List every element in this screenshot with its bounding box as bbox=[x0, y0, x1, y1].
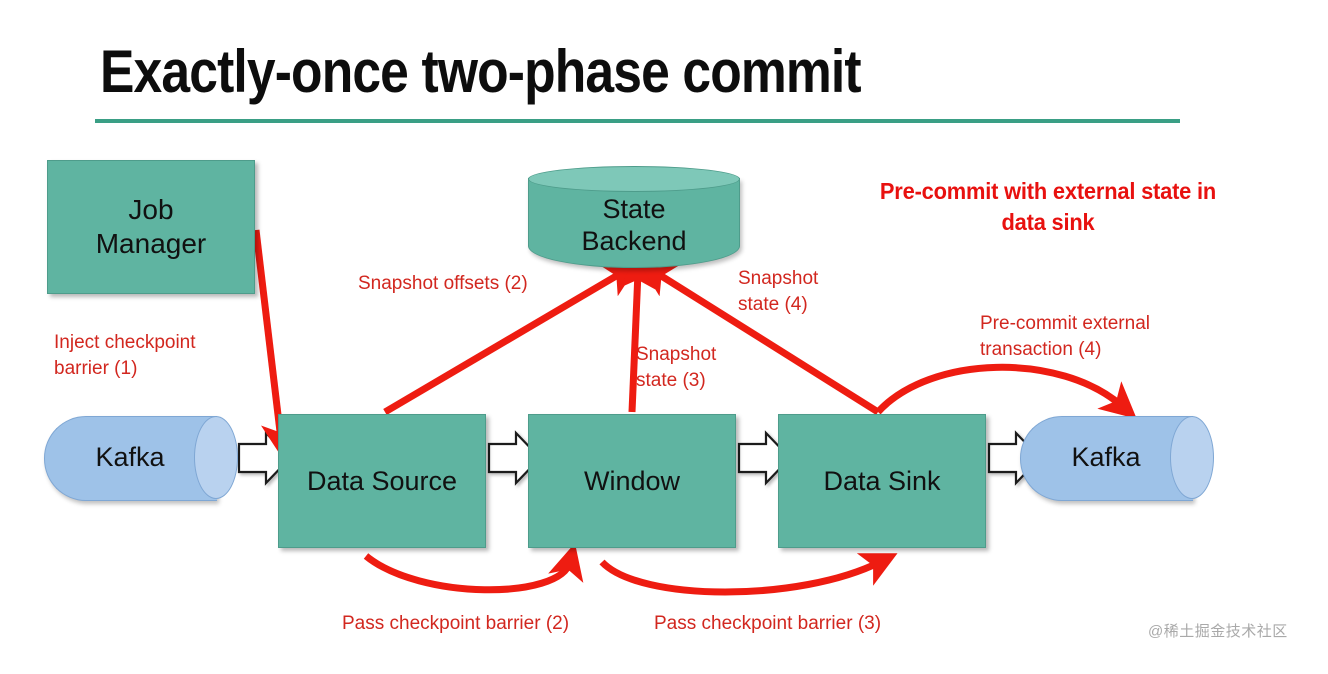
annotation-pass-barrier-3: Pass checkpoint barrier (3) bbox=[654, 611, 881, 637]
node-kafka-source[interactable]: Kafka bbox=[44, 416, 239, 499]
arrow-pass-barrier-2 bbox=[366, 556, 570, 590]
page-title: Exactly-once two-phase commit bbox=[100, 40, 861, 103]
annotation-snapshot-state-3: Snapshot state (3) bbox=[636, 342, 716, 393]
annotation-pass-barrier-2: Pass checkpoint barrier (2) bbox=[342, 611, 569, 637]
watermark: @稀土掘金技术社区 bbox=[1148, 620, 1288, 641]
node-job-manager[interactable]: Job Manager bbox=[47, 160, 255, 294]
arrow-precommit-external bbox=[878, 367, 1122, 412]
annotation-precommit-external: Pre-commit external transaction (4) bbox=[980, 311, 1150, 362]
node-kafka-source-label: Kafka bbox=[44, 416, 216, 499]
arrow-pass-barrier-3 bbox=[602, 562, 880, 592]
callout-heading: Pre-commit with external state in data s… bbox=[858, 176, 1238, 238]
node-window-label: Window bbox=[584, 465, 680, 497]
node-state-backend[interactable]: State Backend bbox=[528, 166, 740, 270]
annotation-inject-barrier: Inject checkpoint barrier (1) bbox=[54, 330, 264, 381]
node-data-sink-label: Data Sink bbox=[823, 465, 940, 497]
node-data-source-label: Data Source bbox=[307, 465, 457, 497]
node-data-sink[interactable]: Data Sink bbox=[778, 414, 986, 548]
node-kafka-sink[interactable]: Kafka bbox=[1020, 416, 1215, 499]
node-job-manager-label: Job Manager bbox=[96, 193, 207, 260]
node-kafka-sink-label: Kafka bbox=[1020, 416, 1192, 499]
node-state-backend-label: State Backend bbox=[528, 180, 740, 270]
annotation-snapshot-offsets: Snapshot offsets (2) bbox=[358, 271, 528, 297]
node-data-source[interactable]: Data Source bbox=[278, 414, 486, 548]
node-window[interactable]: Window bbox=[528, 414, 736, 548]
slide-canvas: Exactly-once two-phase commit Pre-commit… bbox=[0, 0, 1328, 674]
title-underline-rule bbox=[95, 119, 1180, 123]
annotation-snapshot-state-4: Snapshot state (4) bbox=[738, 266, 818, 317]
